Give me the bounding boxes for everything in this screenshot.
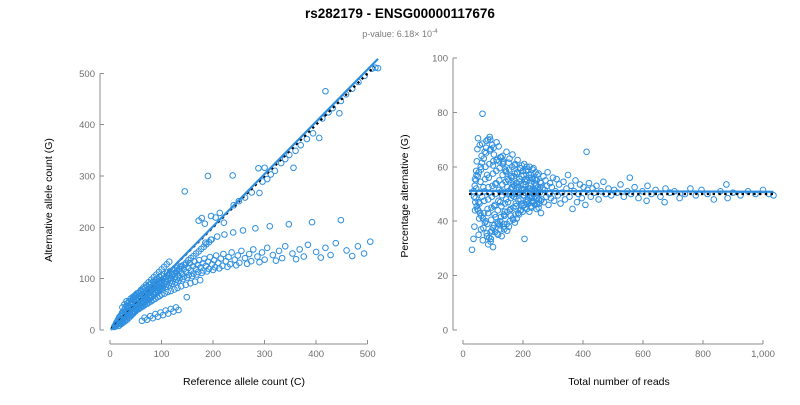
- right-y-axis-title: Percentage alternative (G): [399, 134, 411, 257]
- y-tick-label: 60: [437, 162, 448, 173]
- two-panel-scatter-plot: rs282179 - ENSG00000117676 p-value: 6.18…: [0, 0, 800, 400]
- left-x-axis-title: Reference allele count (C): [183, 376, 305, 388]
- right-fit-line: [469, 191, 774, 192]
- y-tick-label: 40: [437, 217, 448, 228]
- y-tick-label: 80: [437, 108, 448, 119]
- x-tick-label: 200: [515, 349, 531, 360]
- x-tick-label: 0: [460, 349, 465, 360]
- right-x-axis-title: Total number of reads: [568, 376, 670, 388]
- y-tick-label: 200: [79, 223, 95, 234]
- subtitle: p-value: 6.18× 10-4: [362, 28, 438, 39]
- page-title: rs282179 - ENSG00000117676: [305, 6, 495, 21]
- x-tick-label: 400: [575, 349, 591, 360]
- y-tick-label: 20: [437, 271, 448, 282]
- x-tick-label: 800: [695, 349, 711, 360]
- y-tick-label: 0: [90, 326, 95, 337]
- y-tick-label: 100: [432, 54, 448, 65]
- y-tick-label: 300: [79, 171, 95, 182]
- y-tick-label: 400: [79, 120, 95, 131]
- x-tick-label: 0: [107, 349, 112, 360]
- x-tick-label: 600: [635, 349, 651, 360]
- figure-container: rs282179 - ENSG00000117676 p-value: 6.18…: [0, 0, 800, 400]
- x-tick-label: 400: [308, 349, 324, 360]
- y-tick-label: 100: [79, 274, 95, 285]
- y-tick-label: 500: [79, 69, 95, 80]
- subtitle-exponent: -4: [432, 28, 438, 35]
- x-tick-label: 200: [205, 349, 221, 360]
- subtitle-prefix: p-value: 6.18× 10: [362, 29, 432, 39]
- x-tick-label: 500: [360, 349, 376, 360]
- x-tick-label: 300: [257, 349, 273, 360]
- x-tick-label: 100: [154, 349, 170, 360]
- y-tick-label: 0: [443, 326, 448, 337]
- x-tick-label: 1,000: [751, 349, 775, 360]
- left-y-axis-title: Alternative allele count (G): [43, 138, 55, 262]
